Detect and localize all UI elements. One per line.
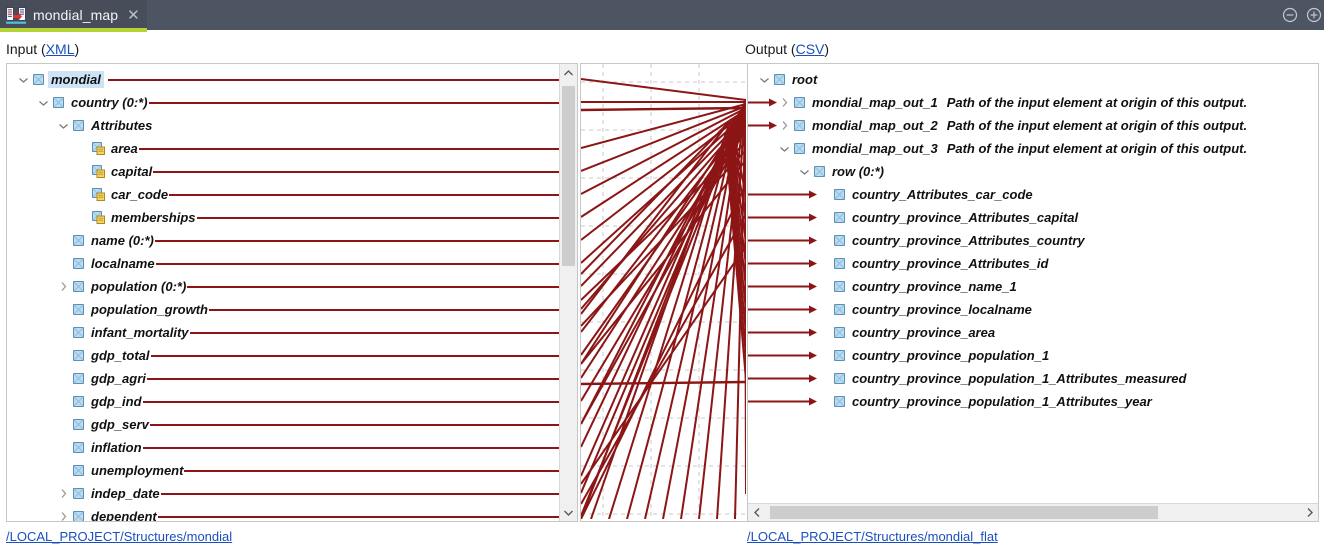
xml-element-icon — [32, 73, 45, 86]
twisty-spacer — [57, 395, 70, 408]
input-tree-item-localname[interactable]: localname — [57, 252, 155, 275]
output-tree-item-country_province_name_1[interactable]: country_province_name_1 — [818, 275, 1017, 298]
tree-item-label: country_province_population_1 — [852, 348, 1049, 363]
twisty-spacer — [57, 234, 70, 247]
xml-element-icon — [793, 142, 806, 155]
mapping-connector-line — [153, 171, 559, 173]
chevron-down-icon[interactable] — [17, 73, 30, 86]
mapping-connector-line — [169, 194, 559, 196]
input-source-path-link[interactable]: /LOCAL_PROJECT/Structures/mondial — [6, 529, 232, 544]
input-tree-item-gdp_serv[interactable]: gdp_serv — [57, 413, 149, 436]
tree-item-label: country (0:*) — [71, 95, 148, 110]
mapping-connector-line — [149, 102, 559, 104]
twisty-spacer — [57, 257, 70, 270]
chevron-down-icon[interactable] — [758, 73, 771, 86]
chevron-right-icon[interactable] — [57, 280, 70, 293]
mapping-connector-line — [190, 332, 559, 334]
input-tree-item-dependent[interactable]: dependent — [57, 505, 157, 522]
mapping-connector-line — [151, 355, 560, 357]
twisty-spacer — [818, 349, 831, 362]
mapping-connector-line — [108, 79, 559, 81]
tree-item-label: infant_mortality — [91, 325, 189, 340]
twisty-spacer — [77, 165, 90, 178]
xml-element-icon — [833, 372, 846, 385]
mapping-incoming-arrow-icon — [747, 120, 777, 131]
tree-item-label: mondial — [48, 71, 104, 88]
twisty-spacer — [77, 188, 90, 201]
output-tree-item-country_province_population_1[interactable]: country_province_population_1 — [818, 344, 1049, 367]
xml-element-icon — [72, 395, 85, 408]
twisty-spacer — [818, 188, 831, 201]
output-tree-item-country_attributes_car_code[interactable]: country_Attributes_car_code — [818, 183, 1033, 206]
tree-item-label: gdp_serv — [91, 417, 149, 432]
output-caption-suffix: ) — [824, 41, 829, 57]
chevron-down-icon[interactable] — [798, 165, 811, 178]
twisty-spacer — [818, 211, 831, 224]
twisty-spacer — [818, 280, 831, 293]
mapping-incoming-arrow-icon — [747, 281, 817, 292]
xml-element-icon — [833, 188, 846, 201]
chevron-right-icon[interactable] — [1301, 504, 1318, 521]
twisty-spacer — [818, 257, 831, 270]
tree-item-label: name (0:*) — [91, 233, 154, 248]
xml-element-icon — [833, 303, 846, 316]
xml-element-icon — [72, 464, 85, 477]
output-tree-horizontal-scrollbar[interactable] — [748, 503, 1318, 521]
tree-item-label: row (0:*) — [832, 164, 884, 179]
mapping-connections-canvas[interactable] — [580, 63, 749, 522]
twisty-spacer — [818, 326, 831, 339]
output-panel-caption: Output (CSV) — [745, 41, 829, 57]
xml-element-icon — [72, 441, 85, 454]
mapping-incoming-arrow-icon — [747, 97, 777, 108]
xml-element-icon — [773, 73, 786, 86]
twisty-spacer — [57, 349, 70, 362]
mapping-incoming-arrow-icon — [747, 235, 817, 246]
mapping-incoming-arrow-icon — [747, 350, 817, 361]
tree-item-label: country_province_Attributes_capital — [852, 210, 1078, 225]
tree-item-label: country_province_population_1_Attributes… — [852, 394, 1152, 409]
tab-active-accent-bar — [0, 28, 147, 32]
input-tree-item-indep_date[interactable]: indep_date — [57, 482, 160, 505]
mapping-connector-line — [150, 424, 559, 426]
mapping-connector-line — [155, 240, 559, 242]
xml-element-icon — [833, 211, 846, 224]
xml-element-icon — [72, 257, 85, 270]
mapping-connector-line — [156, 263, 559, 265]
chevron-right-icon[interactable] — [778, 119, 791, 132]
xml-element-icon — [72, 487, 85, 500]
input-caption-suffix: ) — [75, 41, 80, 57]
chevron-down-icon[interactable] — [778, 142, 791, 155]
tree-item-label: unemployment — [91, 463, 183, 478]
tree-item-label: root — [792, 72, 817, 87]
input-tree-item-name0[interactable]: name (0:*) — [57, 229, 154, 252]
twisty-spacer — [818, 372, 831, 385]
tree-item-description: Path of the input element at origin of t… — [947, 141, 1247, 156]
twisty-spacer — [57, 326, 70, 339]
output-tree-item-mondial_map_out_3[interactable]: mondial_map_out_3Path of the input eleme… — [778, 137, 1247, 160]
tree-item-label: dependent — [91, 509, 157, 522]
tree-item-label: country_province_Attributes_country — [852, 233, 1085, 248]
chevron-up-icon[interactable] — [560, 64, 577, 81]
output-structure-tree-panel[interactable]: rootmondial_map_out_1Path of the input e… — [747, 63, 1319, 522]
tree-item-label: memberships — [111, 210, 196, 225]
mapping-connector-line — [197, 217, 559, 219]
xml-element-icon — [833, 349, 846, 362]
input-tree-item-memberships[interactable]: memberships — [77, 206, 196, 229]
mapping-connector-line — [161, 493, 559, 495]
tree-item-label: car_code — [111, 187, 168, 202]
mapping-connector-line — [147, 378, 559, 380]
close-icon[interactable]: ✕ — [127, 8, 140, 23]
chevron-down-icon[interactable] — [560, 504, 577, 521]
output-tree-item-country_province_localname[interactable]: country_province_localname — [818, 298, 1032, 321]
tree-item-label: mondial_map_out_3 — [812, 141, 938, 156]
mapping-incoming-arrow-icon — [747, 189, 817, 200]
xml-element-icon — [833, 257, 846, 270]
output-format-link[interactable]: CSV — [796, 41, 825, 57]
output-tree-item-mondial_map_out_2[interactable]: mondial_map_out_2Path of the input eleme… — [778, 114, 1247, 137]
input-tree-item-inflation[interactable]: inflation — [57, 436, 142, 459]
input-tree-item-mondial[interactable]: mondial — [17, 68, 101, 91]
twisty-spacer — [818, 234, 831, 247]
tree-item-label: population_growth — [91, 302, 208, 317]
xml-element-icon — [793, 119, 806, 132]
input-tree-item-gdp_total[interactable]: gdp_total — [57, 344, 150, 367]
tree-item-label: localname — [91, 256, 155, 271]
tree-item-label: capital — [111, 164, 152, 179]
tab-title: mondial_map — [33, 7, 118, 23]
mapping-connector-line — [187, 286, 559, 288]
input-tree-item-gdp_agri[interactable]: gdp_agri — [57, 367, 146, 390]
window-titlebar: mondial_map ✕ — [0, 0, 1324, 30]
mapping-connector-line — [143, 447, 559, 449]
mapping-incoming-arrow-icon — [747, 373, 817, 384]
xml-attribute-icon — [92, 165, 105, 178]
minimize-icon[interactable] — [1282, 7, 1298, 23]
editor-tab-mondial-map[interactable]: mondial_map ✕ — [0, 0, 147, 30]
xml-element-icon — [833, 280, 846, 293]
mapping-incoming-arrow-icon — [747, 396, 817, 407]
mapping-connector-line — [184, 470, 559, 472]
output-tree-item-root[interactable]: root — [758, 68, 817, 91]
tree-item-description: Path of the input element at origin of t… — [947, 95, 1247, 110]
output-source-path-link[interactable]: /LOCAL_PROJECT/Structures/mondial_flat — [747, 529, 998, 544]
input-tree-item-population0[interactable]: population (0:*) — [57, 275, 186, 298]
chevron-right-icon[interactable] — [778, 96, 791, 109]
output-caption-prefix: Output ( — [745, 41, 796, 57]
output-tree-item-country_province_attributes_country[interactable]: country_province_Attributes_country — [818, 229, 1085, 252]
tree-item-label: mondial_map_out_2 — [812, 118, 938, 133]
tree-item-label: Attributes — [91, 118, 152, 133]
tree-item-label: gdp_ind — [91, 394, 142, 409]
mapping-connector-line — [143, 401, 559, 403]
twisty-spacer — [57, 418, 70, 431]
tree-item-label: country_province_population_1_Attributes… — [852, 371, 1186, 386]
output-tree-item-country_province_area[interactable]: country_province_area — [818, 321, 995, 344]
twisty-spacer — [57, 303, 70, 316]
mapping-incoming-arrow-icon — [747, 304, 817, 315]
input-tree-item-capital[interactable]: capital — [77, 160, 152, 183]
xml-element-icon — [793, 96, 806, 109]
xml-element-icon — [833, 326, 846, 339]
tree-item-label: mondial_map_out_1 — [812, 95, 938, 110]
chevron-down-icon[interactable] — [37, 96, 50, 109]
scrollbar-thumb[interactable] — [770, 506, 1158, 519]
mapping-incoming-arrow-icon — [747, 212, 817, 223]
output-tree-item-row0[interactable]: row (0:*) — [798, 160, 884, 183]
mapping-connector-line — [209, 309, 559, 311]
xml-element-icon — [72, 418, 85, 431]
twisty-spacer — [77, 142, 90, 155]
twisty-spacer — [818, 303, 831, 316]
tree-item-label: country_province_area — [852, 325, 995, 340]
mapping-lines — [581, 64, 746, 519]
tree-item-label: country_province_name_1 — [852, 279, 1017, 294]
input-tree-item-population_growth[interactable]: population_growth — [57, 298, 208, 321]
scrollbar-thumb[interactable] — [562, 86, 575, 266]
chevron-down-icon[interactable] — [57, 119, 70, 132]
xml-element-icon — [72, 280, 85, 293]
chevron-right-icon[interactable] — [57, 487, 70, 500]
input-tree-item-attributes[interactable]: Attributes — [57, 114, 152, 137]
input-tree: mondialcountry (0:*)Attributesareacapita… — [7, 64, 577, 521]
twisty-spacer — [77, 211, 90, 224]
tree-item-description: Path of the input element at origin of t… — [947, 118, 1247, 133]
twisty-spacer — [57, 441, 70, 454]
xml-element-icon — [72, 326, 85, 339]
mapping-connector-line — [139, 148, 559, 150]
output-tree-item-country_province_population_1_attributes_year[interactable]: country_province_population_1_Attributes… — [818, 390, 1152, 413]
mapping-connector-line — [158, 516, 559, 518]
xml-element-icon — [72, 510, 85, 522]
xml-element-icon — [833, 234, 846, 247]
input-caption-prefix: Input ( — [6, 41, 46, 57]
input-panel-caption: Input (XML) — [6, 41, 79, 57]
input-tree-item-area[interactable]: area — [77, 137, 138, 160]
xml-attribute-icon — [92, 142, 105, 155]
xml-element-icon — [833, 395, 846, 408]
xml-element-icon — [72, 119, 85, 132]
xml-element-icon — [72, 303, 85, 316]
tree-item-label: country_province_localname — [852, 302, 1032, 317]
xml-element-icon — [72, 234, 85, 247]
input-format-link[interactable]: XML — [46, 41, 75, 57]
tree-item-label: indep_date — [91, 486, 160, 501]
mapping-incoming-arrow-icon — [747, 327, 817, 338]
mapping-document-icon — [6, 6, 26, 24]
input-tree-vertical-scrollbar[interactable] — [559, 64, 577, 521]
twisty-spacer — [57, 464, 70, 477]
input-tree-item-gdp_ind[interactable]: gdp_ind — [57, 390, 142, 413]
output-tree-item-country_province_population_1_attributes_measured[interactable]: country_province_population_1_Attributes… — [818, 367, 1186, 390]
input-tree-item-car_code[interactable]: car_code — [77, 183, 168, 206]
tree-item-label: gdp_agri — [91, 371, 146, 386]
input-tree-item-unemployment[interactable]: unemployment — [57, 459, 183, 482]
chevron-right-icon[interactable] — [57, 510, 70, 522]
input-structure-tree-panel[interactable]: mondialcountry (0:*)Attributesareacapita… — [6, 63, 578, 522]
xml-attribute-icon — [92, 211, 105, 224]
mapping-incoming-arrow-icon — [747, 258, 817, 269]
maximize-icon[interactable] — [1306, 7, 1322, 23]
tree-item-label: inflation — [91, 440, 142, 455]
tree-item-label: area — [111, 141, 138, 156]
input-tree-item-country0[interactable]: country (0:*) — [37, 91, 148, 114]
tree-item-label: country_province_Attributes_id — [852, 256, 1049, 271]
output-tree: rootmondial_map_out_1Path of the input e… — [748, 64, 1318, 521]
output-tree-item-country_province_attributes_id[interactable]: country_province_Attributes_id — [818, 252, 1049, 275]
xml-element-icon — [72, 349, 85, 362]
twisty-spacer — [818, 395, 831, 408]
tree-item-label: population (0:*) — [91, 279, 186, 294]
output-tree-item-mondial_map_out_1[interactable]: mondial_map_out_1Path of the input eleme… — [778, 91, 1247, 114]
tree-item-label: gdp_total — [91, 348, 150, 363]
xml-element-icon — [813, 165, 826, 178]
twisty-spacer — [57, 372, 70, 385]
xml-element-icon — [72, 372, 85, 385]
chevron-left-icon[interactable] — [748, 504, 765, 521]
output-tree-item-country_province_attributes_capital[interactable]: country_province_Attributes_capital — [818, 206, 1078, 229]
tree-item-label: country_Attributes_car_code — [852, 187, 1033, 202]
input-tree-item-infant_mortality[interactable]: infant_mortality — [57, 321, 189, 344]
xml-attribute-icon — [92, 188, 105, 201]
xml-element-icon — [52, 96, 65, 109]
